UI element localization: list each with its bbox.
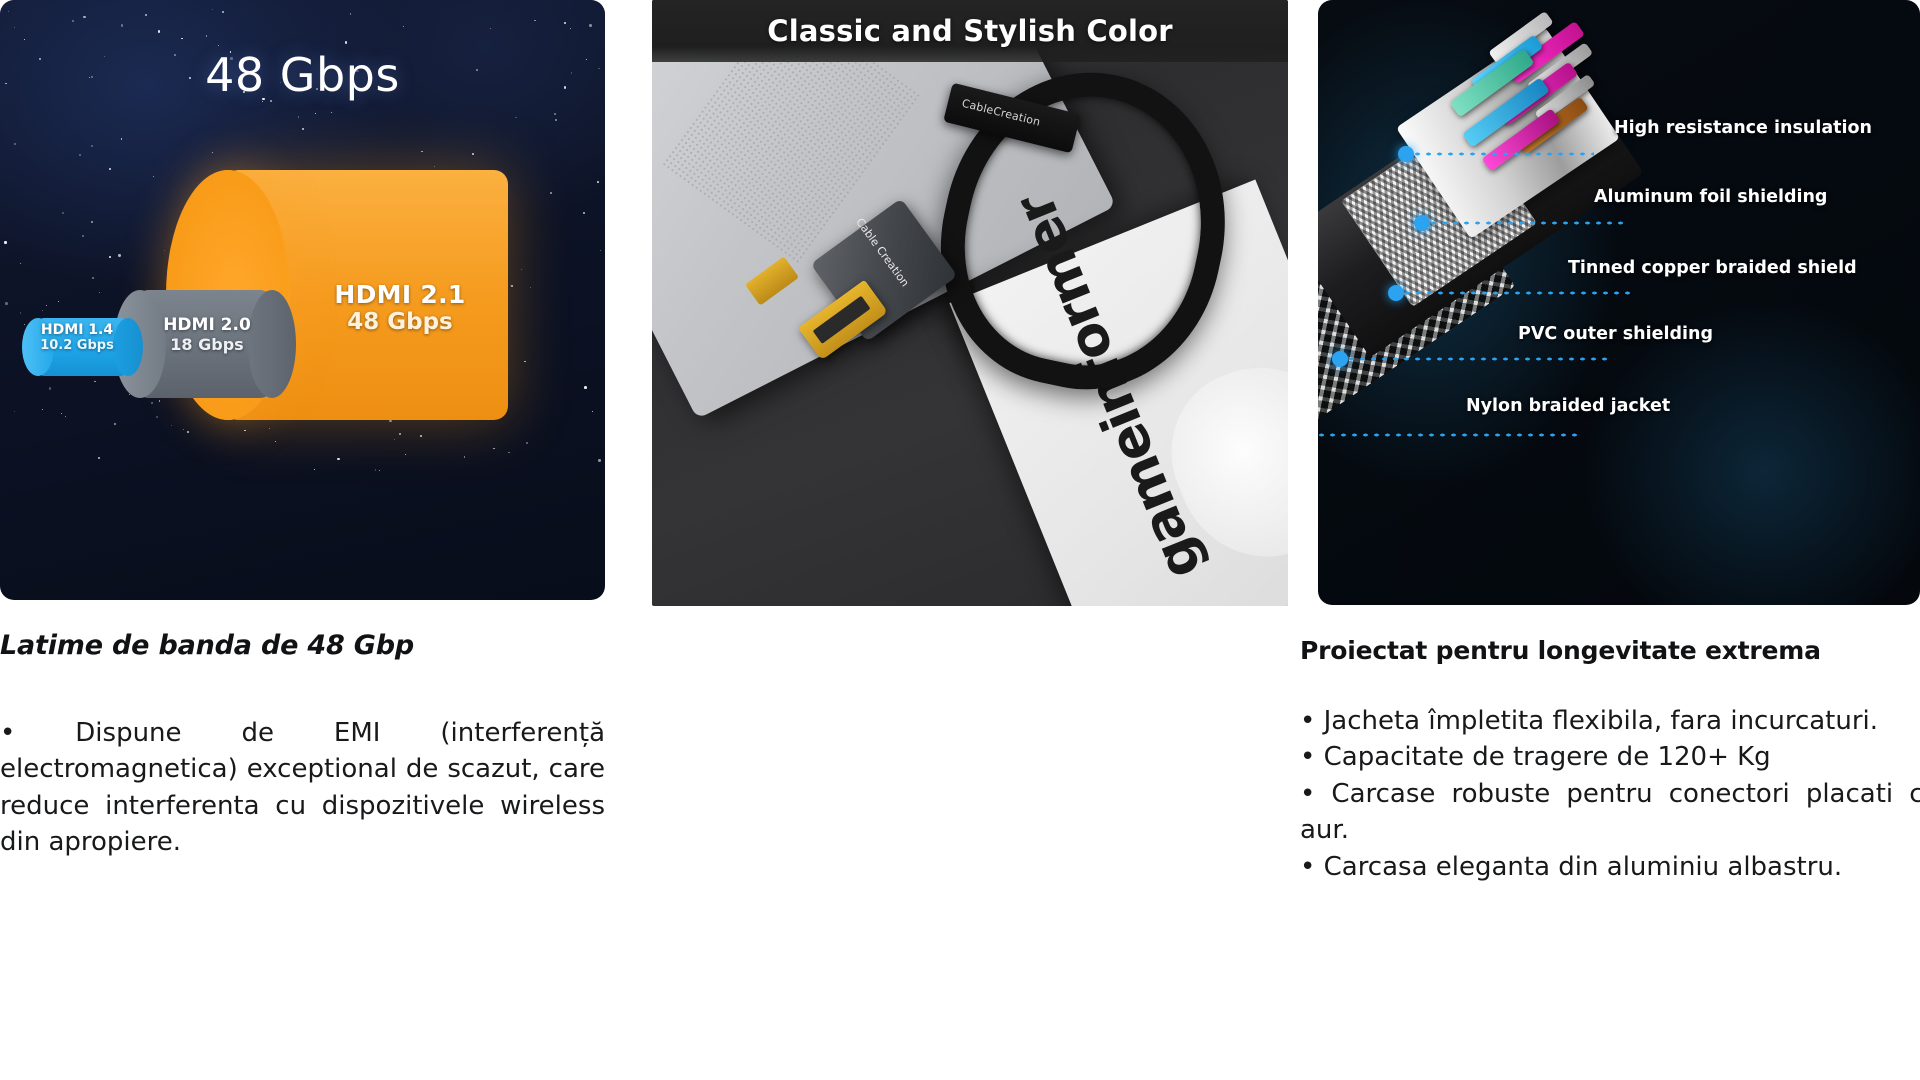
- image-banner: Classic and Stylish Color: [652, 0, 1288, 62]
- callout-leader-line: [1414, 220, 1628, 226]
- feature-column-durability: High resistance insulationAluminum foil …: [1318, 0, 1920, 605]
- callout-dots: [1428, 220, 1628, 226]
- diagram-title: 48 Gbps: [0, 48, 605, 102]
- callout-leader-line: [1332, 356, 1608, 362]
- feature-heading-bandwidth: Latime de banda de 48 Gbp: [0, 630, 605, 661]
- feature-bullet: • Jacheta împletita flexibila, fara incu…: [1300, 703, 1920, 739]
- connector-brand-label: Cable Creation: [853, 216, 912, 290]
- cable-cross-section-diagram: High resistance insulationAluminum foil …: [1318, 0, 1920, 605]
- feature-heading-longevity: Proiectat pentru longevitate extrema: [1300, 636, 1920, 665]
- callout-leader-line: [1318, 432, 1580, 438]
- spacer: [1300, 675, 1920, 703]
- feature-text-bandwidth: Latime de banda de 48 Gbp • Dispune de E…: [0, 630, 605, 861]
- callout-label: Tinned copper braided shield: [1568, 258, 1857, 278]
- velcro-brand-label: CableCreation: [961, 97, 1042, 129]
- callout-label: Aluminum foil shielding: [1594, 187, 1827, 207]
- feature-bullet: • Carcase robuste pentru conectori placa…: [1300, 776, 1920, 849]
- callout-dots: [1318, 432, 1580, 438]
- callout-label: PVC outer shielding: [1518, 324, 1713, 344]
- hdmi-bandwidth-diagram: 48 Gbps HDMI 2.1 48 Gbps HDMI 2.0 18 Gbp…: [0, 0, 605, 600]
- callout-dots: [1412, 151, 1594, 157]
- callout-label: High resistance insulation: [1614, 118, 1872, 138]
- feature-text-longevity: Proiectat pentru longevitate extrema • J…: [1300, 636, 1920, 885]
- feature-bullet: • Capacitate de tragere de 120+ Kg: [1300, 739, 1920, 775]
- callout-leader-line: [1398, 151, 1594, 157]
- feature-column-bandwidth: 48 Gbps HDMI 2.1 48 Gbps HDMI 2.0 18 Gbp…: [0, 0, 605, 600]
- callout-label: Nylon braided jacket: [1466, 396, 1670, 416]
- spacer: [0, 671, 605, 715]
- callout-dots: [1402, 290, 1634, 296]
- product-feature-page: 48 Gbps HDMI 2.1 48 Gbps HDMI 2.0 18 Gbp…: [0, 0, 1920, 1080]
- callout-leader-line: [1388, 290, 1634, 296]
- feature-column-longevity: shift gameinformer CableCreation Cable C…: [652, 0, 1288, 606]
- feature-bullet: • Carcasa eleganta din aluminiu albastru…: [1300, 849, 1920, 885]
- image-banner-text: Classic and Stylish Color: [767, 14, 1173, 48]
- cylinder-hdmi-20: [140, 290, 272, 398]
- feature-bullet: • Dispune de EMI (interferență electroma…: [0, 715, 605, 861]
- cylinder-hdmi-14: [38, 318, 128, 376]
- cable-on-desk-photo: shift gameinformer CableCreation Cable C…: [652, 0, 1288, 606]
- callout-group: High resistance insulationAluminum foil …: [1318, 0, 1920, 605]
- callout-dots: [1346, 356, 1608, 362]
